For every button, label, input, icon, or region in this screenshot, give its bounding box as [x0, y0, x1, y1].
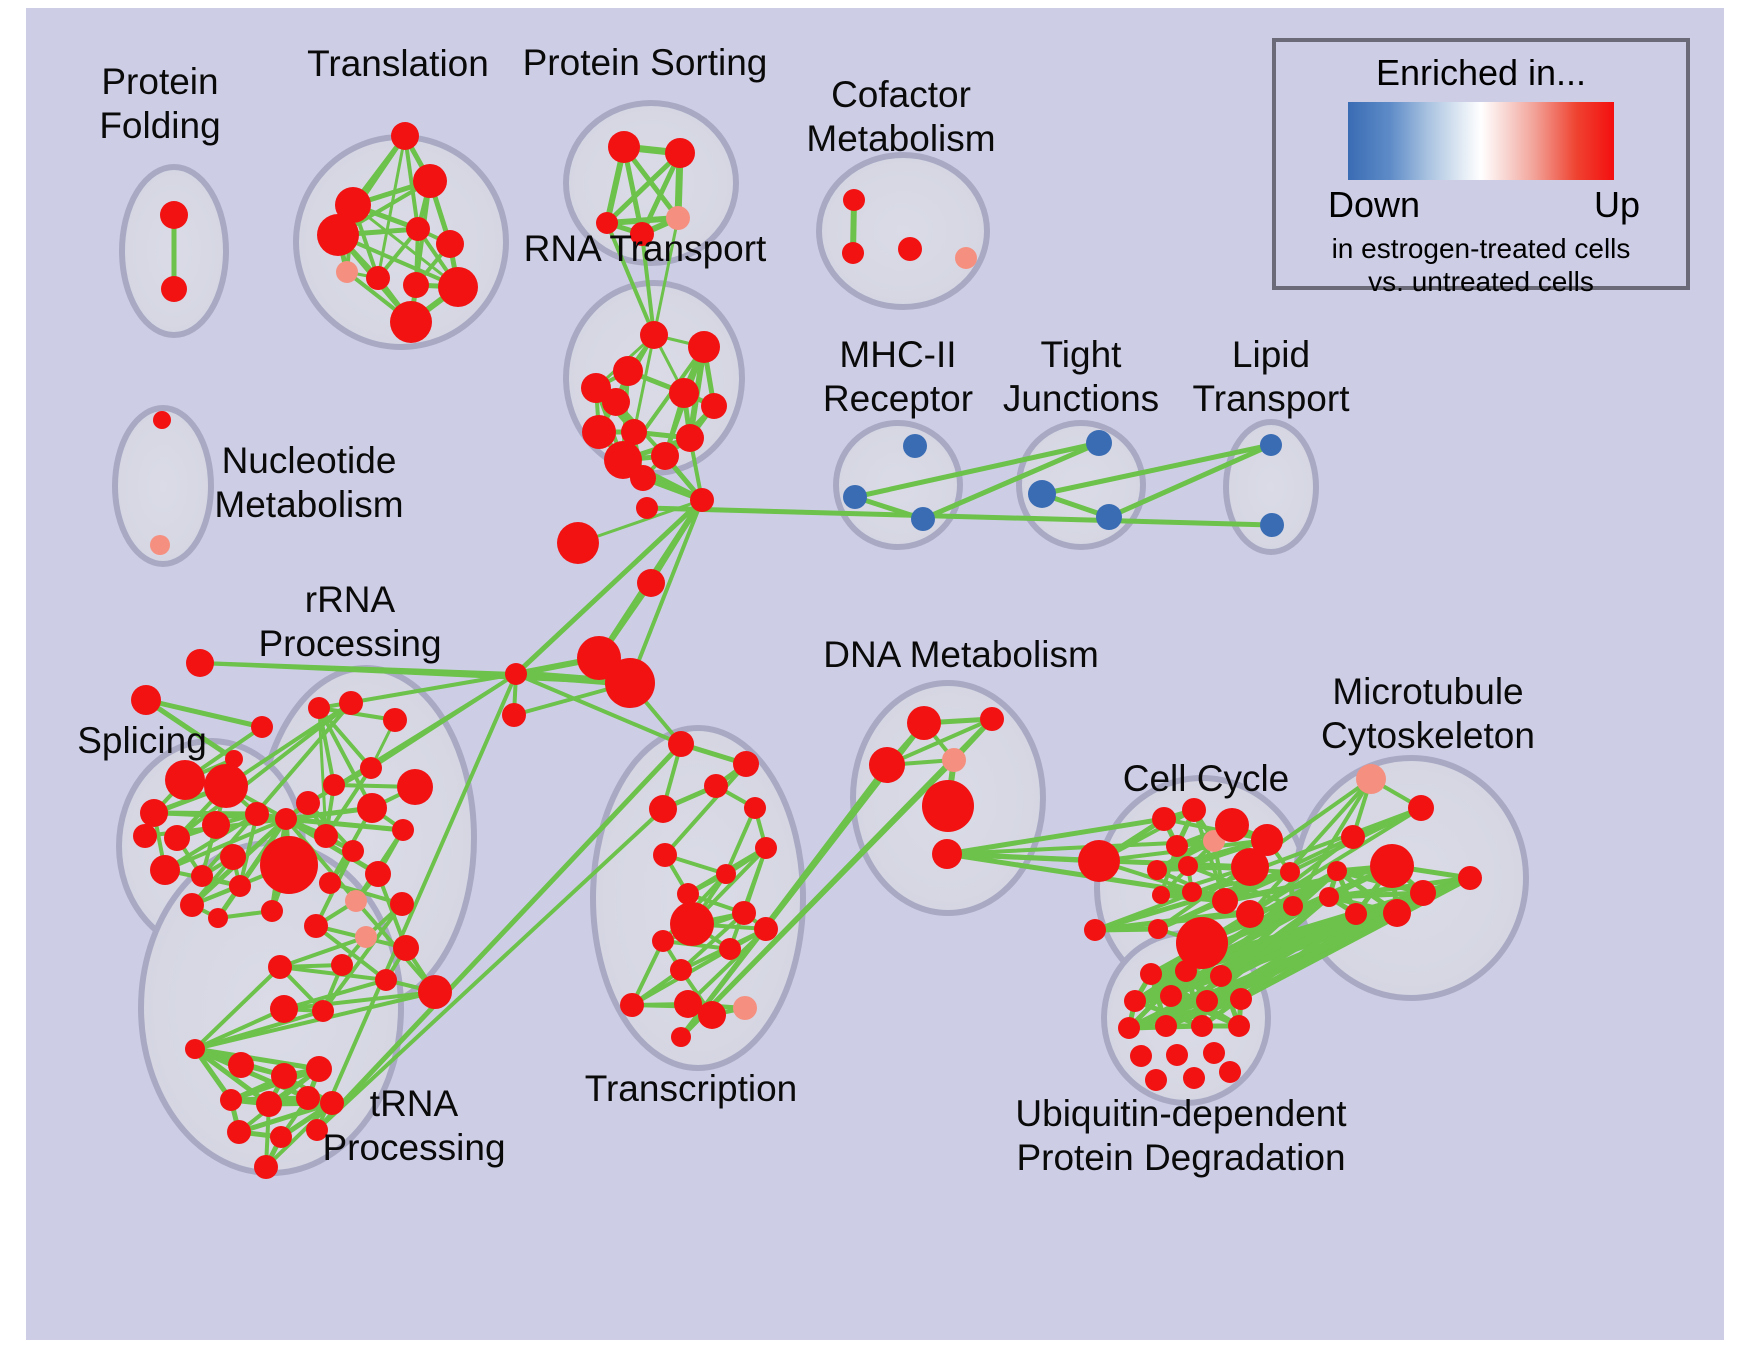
gene-set-node[interactable]	[317, 214, 359, 256]
gene-set-node[interactable]	[605, 658, 655, 708]
gene-set-node[interactable]	[185, 1039, 205, 1059]
gene-set-node[interactable]	[651, 442, 679, 470]
gene-set-node[interactable]	[1410, 880, 1436, 906]
gene-set-node[interactable]	[670, 959, 692, 981]
gene-set-node[interactable]	[1458, 866, 1482, 890]
gene-set-node[interactable]	[1203, 1042, 1225, 1064]
cluster-label-tight-junctions: TightJunctions	[1003, 334, 1159, 419]
gene-set-node[interactable]	[319, 872, 341, 894]
gene-set-node[interactable]	[668, 731, 694, 757]
gene-set-node[interactable]	[342, 840, 364, 862]
gene-set-node[interactable]	[1191, 1015, 1213, 1037]
gene-set-node[interactable]	[202, 811, 230, 839]
gene-set-node[interactable]	[719, 938, 741, 960]
gene-set-node[interactable]	[732, 901, 756, 925]
gene-set-node[interactable]	[842, 242, 864, 264]
gene-set-node[interactable]	[1210, 965, 1232, 987]
gene-set-node[interactable]	[922, 780, 974, 832]
gene-set-node[interactable]	[220, 1089, 242, 1111]
gene-set-node[interactable]	[557, 522, 599, 564]
gene-set-node[interactable]	[674, 990, 702, 1018]
gene-set-node[interactable]	[1084, 919, 1106, 941]
gene-set-node[interactable]	[228, 1052, 254, 1078]
gene-set-node[interactable]	[955, 247, 977, 269]
gene-set-node[interactable]	[150, 535, 170, 555]
gene-set-node[interactable]	[1124, 990, 1146, 1012]
gene-set-node[interactable]	[505, 663, 527, 685]
gene-set-node[interactable]	[314, 824, 338, 848]
gene-set-node[interactable]	[1215, 808, 1249, 842]
gene-set-node[interactable]	[1327, 861, 1347, 881]
legend-high-label: Up	[1594, 184, 1640, 226]
gene-set-node[interactable]	[1152, 886, 1170, 904]
gene-set-node[interactable]	[393, 935, 419, 961]
gene-set-node[interactable]	[733, 751, 759, 777]
gene-set-node[interactable]	[1028, 480, 1056, 508]
gene-set-node[interactable]	[843, 189, 865, 211]
gene-set-node[interactable]	[1370, 844, 1414, 888]
gene-set-node[interactable]	[608, 131, 640, 163]
figure-root: ProteinFoldingTranslationProtein Sorting…	[0, 0, 1750, 1360]
gene-set-node[interactable]	[652, 930, 674, 952]
gene-set-node[interactable]	[620, 993, 644, 1017]
gene-set-node[interactable]	[133, 824, 157, 848]
cluster-label-dna-metabolism: DNA Metabolism	[823, 634, 1099, 675]
gene-set-node[interactable]	[1160, 985, 1182, 1007]
gene-set-node[interactable]	[1196, 990, 1218, 1012]
gene-set-node[interactable]	[186, 649, 214, 677]
gene-set-node[interactable]	[1118, 1017, 1140, 1039]
legend: Enriched in... Down Up in estrogen-treat…	[1272, 38, 1690, 290]
gene-set-node[interactable]	[251, 716, 273, 738]
gene-set-node[interactable]	[932, 839, 962, 869]
gene-set-node[interactable]	[671, 1027, 691, 1047]
cluster-label-splicing: Splicing	[77, 720, 207, 761]
gene-set-node[interactable]	[653, 843, 677, 867]
gene-set-node[interactable]	[165, 760, 205, 800]
gene-set-node[interactable]	[690, 488, 714, 512]
gene-set-node[interactable]	[1230, 988, 1252, 1010]
gene-set-node[interactable]	[676, 424, 704, 452]
gene-set-node[interactable]	[980, 707, 1004, 731]
gene-set-node[interactable]	[1175, 960, 1197, 982]
gene-set-node[interactable]	[1183, 1067, 1205, 1089]
gene-set-node[interactable]	[1212, 888, 1238, 914]
gene-set-node[interactable]	[1182, 882, 1202, 902]
cluster-label-rna-transport: RNA Transport	[524, 228, 767, 269]
gene-set-node[interactable]	[1236, 900, 1264, 928]
legend-low-label: Down	[1328, 184, 1420, 226]
gene-set-node[interactable]	[1155, 1015, 1177, 1037]
gene-set-node[interactable]	[365, 861, 391, 887]
gene-set-node[interactable]	[261, 900, 283, 922]
gene-set-node[interactable]	[1147, 860, 1167, 880]
gene-set-node[interactable]	[357, 793, 387, 823]
gene-set-node[interactable]	[744, 797, 766, 819]
gene-set-node[interactable]	[268, 955, 292, 979]
gene-set-node[interactable]	[271, 1063, 297, 1089]
gene-set-node[interactable]	[308, 697, 330, 719]
cluster-label-cell-cycle: Cell Cycle	[1123, 758, 1290, 799]
gene-set-node[interactable]	[942, 748, 966, 772]
gene-set-node[interactable]	[670, 902, 714, 946]
gene-set-node[interactable]	[602, 388, 630, 416]
gene-set-node[interactable]	[669, 378, 699, 408]
gene-set-node[interactable]	[227, 1120, 251, 1144]
gene-set-node[interactable]	[754, 917, 778, 941]
gene-set-node[interactable]	[1231, 848, 1269, 886]
cluster-label-translation: Translation	[307, 43, 489, 84]
gene-set-node[interactable]	[375, 969, 397, 991]
cluster-label-protein-folding: ProteinFolding	[99, 61, 220, 146]
gene-set-node[interactable]	[245, 802, 269, 826]
gene-set-node[interactable]	[275, 808, 297, 830]
gene-set-node[interactable]	[903, 434, 927, 458]
gene-set-node[interactable]	[1283, 896, 1303, 916]
gene-set-node[interactable]	[613, 356, 643, 386]
gene-set-node[interactable]	[1145, 1069, 1167, 1091]
gene-set-node[interactable]	[140, 799, 168, 827]
gene-set-node[interactable]	[1166, 1044, 1188, 1066]
gene-set-node[interactable]	[336, 261, 358, 283]
gene-set-node[interactable]	[1148, 919, 1168, 939]
gene-set-node[interactable]	[204, 764, 248, 808]
gene-set-node[interactable]	[304, 914, 328, 938]
gene-set-node[interactable]	[391, 122, 419, 150]
gene-set-node[interactable]	[637, 569, 665, 597]
gene-set-node[interactable]	[413, 164, 447, 198]
gene-set-node[interactable]	[665, 138, 695, 168]
gene-set-node[interactable]	[270, 995, 298, 1023]
gene-set-node[interactable]	[312, 1000, 334, 1022]
gene-set-node[interactable]	[911, 507, 935, 531]
gene-set-node[interactable]	[254, 1155, 278, 1179]
gene-set-node[interactable]	[438, 267, 478, 307]
gene-set-node[interactable]	[1228, 1015, 1250, 1037]
cluster-label-cofactor-metabolism: CofactorMetabolism	[806, 74, 995, 159]
cluster-label-lipid-transport: LipidTransport	[1193, 334, 1351, 419]
cluster-hull-cofactor-metabolism[interactable]	[819, 155, 987, 307]
gene-set-node[interactable]	[843, 485, 867, 509]
gene-set-node[interactable]	[403, 272, 429, 298]
gene-set-node[interactable]	[331, 954, 353, 976]
gene-set-node[interactable]	[360, 757, 382, 779]
gene-set-node[interactable]	[1096, 504, 1122, 530]
gene-set-node[interactable]	[153, 411, 171, 429]
gene-set-node[interactable]	[1078, 840, 1120, 882]
gene-set-node[interactable]	[161, 276, 187, 302]
gene-set-node[interactable]	[296, 1086, 320, 1110]
gene-set-node[interactable]	[1086, 430, 1112, 456]
gene-set-node[interactable]	[1140, 963, 1162, 985]
gene-set-node[interactable]	[1130, 1045, 1152, 1067]
gene-set-node[interactable]	[716, 864, 736, 884]
gene-set-node[interactable]	[869, 747, 905, 783]
gene-set-node[interactable]	[688, 331, 720, 363]
gene-set-node[interactable]	[220, 844, 246, 870]
cluster-label-microtubule-cytoskeleton: MicrotubuleCytoskeleton	[1321, 671, 1535, 756]
gene-set-node[interactable]	[164, 825, 190, 851]
cluster-label-rrna-processing: rRNAProcessing	[258, 579, 441, 664]
cluster-label-mhc-ii-receptor: MHC-IIReceptor	[823, 334, 973, 419]
gene-set-node[interactable]	[320, 1091, 344, 1115]
cluster-label-nucleotide-metabolism: NucleotideMetabolism	[214, 440, 403, 525]
gene-set-node[interactable]	[1166, 835, 1188, 857]
gene-set-node[interactable]	[418, 975, 452, 1009]
gene-set-node[interactable]	[406, 217, 430, 241]
gene-set-node[interactable]	[1280, 862, 1300, 882]
gene-set-node[interactable]	[907, 706, 941, 740]
gene-set-node[interactable]	[755, 837, 777, 859]
gene-set-node[interactable]	[160, 201, 188, 229]
gene-set-node[interactable]	[180, 893, 204, 917]
gene-set-node[interactable]	[582, 415, 616, 449]
legend-endpoints: Down Up	[1276, 180, 1686, 226]
gene-set-node[interactable]	[390, 892, 414, 916]
gene-set-node[interactable]	[698, 1001, 726, 1029]
legend-caption: in estrogen-treated cells vs. untreated …	[1276, 232, 1686, 298]
gene-set-node[interactable]	[390, 301, 432, 343]
gene-set-node[interactable]	[1182, 798, 1206, 822]
gene-set-node[interactable]	[1152, 807, 1176, 831]
color-scale-bar	[1348, 102, 1614, 180]
gene-set-node[interactable]	[150, 855, 180, 885]
gene-set-node[interactable]	[270, 1126, 292, 1148]
legend-caption-line1: in estrogen-treated cells	[1276, 232, 1686, 265]
gene-set-node[interactable]	[306, 1056, 332, 1082]
gene-set-node[interactable]	[131, 685, 161, 715]
gene-set-node[interactable]	[1345, 903, 1367, 925]
gene-set-node[interactable]	[640, 321, 668, 349]
gene-set-node[interactable]	[392, 819, 414, 841]
gene-set-node[interactable]	[1260, 513, 1284, 537]
gene-set-node[interactable]	[666, 206, 690, 230]
gene-set-node[interactable]	[191, 865, 213, 887]
gene-set-node[interactable]	[1408, 795, 1434, 821]
gene-set-node[interactable]	[1341, 825, 1365, 849]
gene-set-node[interactable]	[260, 836, 318, 894]
gene-set-node[interactable]	[345, 890, 367, 912]
gene-set-node[interactable]	[701, 393, 727, 419]
gene-set-node[interactable]	[296, 791, 320, 815]
legend-title: Enriched in...	[1276, 52, 1686, 94]
cluster-label-protein-sorting: Protein Sorting	[523, 42, 768, 83]
gene-set-node[interactable]	[229, 875, 251, 897]
gene-set-node[interactable]	[677, 883, 699, 905]
gene-set-node[interactable]	[1383, 899, 1411, 927]
gene-set-node[interactable]	[1219, 1061, 1241, 1083]
gene-set-node[interactable]	[636, 497, 658, 519]
gene-set-node[interactable]	[1319, 887, 1339, 907]
cluster-label-ubiquitin-degradation: Ubiquitin-dependentProtein Degradation	[1015, 1093, 1347, 1178]
gene-set-node[interactable]	[383, 708, 407, 732]
cluster-label-transcription: Transcription	[585, 1068, 797, 1109]
gene-set-node[interactable]	[649, 795, 677, 823]
gene-set-node[interactable]	[397, 769, 433, 805]
gene-set-node[interactable]	[1356, 764, 1386, 794]
gene-set-node[interactable]	[339, 691, 363, 715]
legend-caption-line2: vs. untreated cells	[1276, 265, 1686, 298]
gene-set-node[interactable]	[436, 230, 464, 258]
gene-set-node[interactable]	[256, 1091, 282, 1117]
gene-set-node[interactable]	[630, 465, 656, 491]
gene-set-node[interactable]	[502, 703, 526, 727]
gene-set-node[interactable]	[1260, 434, 1282, 456]
gene-set-node[interactable]	[323, 774, 345, 796]
gene-set-node[interactable]	[355, 926, 377, 948]
gene-set-node[interactable]	[898, 237, 922, 261]
gene-set-node[interactable]	[366, 266, 390, 290]
gene-set-node[interactable]	[733, 996, 757, 1020]
gene-set-node[interactable]	[1178, 856, 1198, 876]
gene-set-node[interactable]	[704, 774, 728, 798]
gene-set-node[interactable]	[208, 908, 228, 928]
edge	[647, 508, 1272, 525]
